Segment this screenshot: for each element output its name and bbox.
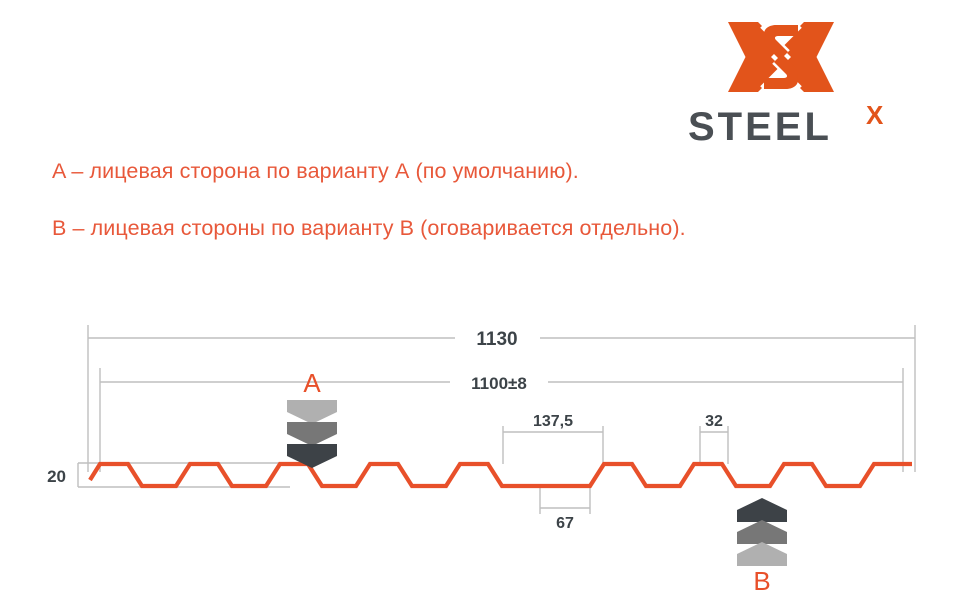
dimension-label-1130: 1130 bbox=[476, 329, 517, 350]
dimension-pitch bbox=[503, 426, 603, 464]
wordmark-superscript: X bbox=[866, 104, 884, 130]
note-variant-b: B – лицевая стороны по варианту B (огова… bbox=[52, 216, 686, 241]
dimension-label-137-5: 137,5 bbox=[533, 413, 573, 430]
profile-technical-drawing: 1130 1100±8 137,5 32 bbox=[0, 300, 970, 597]
steelx-logo-mark-icon bbox=[726, 16, 836, 98]
dimension-valley bbox=[540, 486, 590, 514]
note-variant-a: A – лицевая сторона по варианту А (по ум… bbox=[52, 159, 579, 184]
dimension-label-32: 32 bbox=[705, 413, 723, 430]
wordmark-text: STEEL bbox=[688, 105, 832, 149]
brand-logo: STEEL X bbox=[688, 16, 903, 146]
dimension-rib-top bbox=[700, 426, 728, 464]
corrugated-profile-line bbox=[90, 464, 912, 486]
dimension-label-20: 20 bbox=[47, 467, 66, 486]
steelx-wordmark: STEEL X bbox=[688, 104, 903, 150]
dimension-label-67: 67 bbox=[556, 515, 574, 532]
marker-b-label: B bbox=[753, 566, 770, 596]
page-root: STEEL X A – лицевая сторона по варианту … bbox=[0, 0, 970, 597]
dimension-label-1100: 1100±8 bbox=[471, 374, 527, 393]
marker-a-label: A bbox=[303, 368, 321, 398]
marker-side-a: A bbox=[287, 368, 337, 468]
marker-side-b: B bbox=[737, 498, 787, 596]
